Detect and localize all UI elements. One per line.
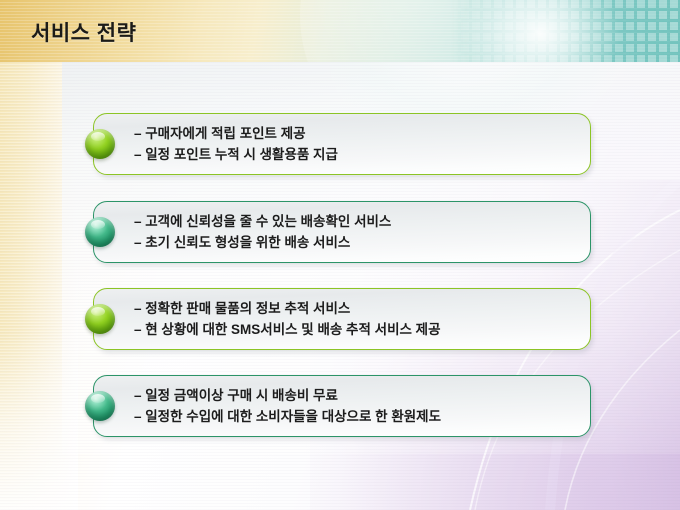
band-light-glow: [455, 0, 625, 62]
bullet-orb-2: [85, 217, 115, 247]
callout-line: – 초기 신뢰도 형성을 위한 배송 서비스: [134, 232, 391, 253]
callout-box-2[interactable]: – 고객에 신뢰성을 줄 수 있는 배송확인 서비스 – 초기 신뢰도 형성을 …: [93, 201, 591, 263]
callout-line: – 일정 포인트 누적 시 생활용품 지급: [134, 144, 338, 165]
presentation-slide: 서비스 전략 – 구매자에게 적립 포인트 제공 – 일정 포인트 누적 시 생…: [0, 0, 680, 510]
callout-box-3[interactable]: – 정확한 판매 물품의 정보 추적 서비스 – 현 상황에 대한 SMS서비스…: [93, 288, 591, 350]
bullet-orb-3: [85, 304, 115, 334]
callout-line: – 일정한 수입에 대한 소비자들을 대상으로 한 환원제도: [134, 406, 441, 427]
bullet-orb-4: [85, 391, 115, 421]
callout-line: – 정확한 판매 물품의 정보 추적 서비스: [134, 298, 441, 319]
callout-box-1[interactable]: – 구매자에게 적립 포인트 제공 – 일정 포인트 누적 시 생활용품 지급: [93, 113, 591, 175]
callout-line: – 현 상황에 대한 SMS서비스 및 배송 추적 서비스 제공: [134, 319, 441, 340]
callout-box-4[interactable]: – 일정 금액이상 구매 시 배송비 무료 – 일정한 수입에 대한 소비자들을…: [93, 375, 591, 437]
callout-box-2-text: – 고객에 신뢰성을 줄 수 있는 배송확인 서비스 – 초기 신뢰도 형성을 …: [134, 211, 391, 253]
bullet-orb-1: [85, 129, 115, 159]
callout-line: – 일정 금액이상 구매 시 배송비 무료: [134, 385, 441, 406]
callout-line: – 고객에 신뢰성을 줄 수 있는 배송확인 서비스: [134, 211, 391, 232]
page-title: 서비스 전략: [31, 17, 136, 47]
callout-box-1-text: – 구매자에게 적립 포인트 제공 – 일정 포인트 누적 시 생활용품 지급: [134, 123, 338, 165]
callout-box-3-text: – 정확한 판매 물품의 정보 추적 서비스 – 현 상황에 대한 SMS서비스…: [134, 298, 441, 340]
callout-line: – 구매자에게 적립 포인트 제공: [134, 123, 338, 144]
callout-box-4-text: – 일정 금액이상 구매 시 배송비 무료 – 일정한 수입에 대한 소비자들을…: [134, 385, 441, 427]
